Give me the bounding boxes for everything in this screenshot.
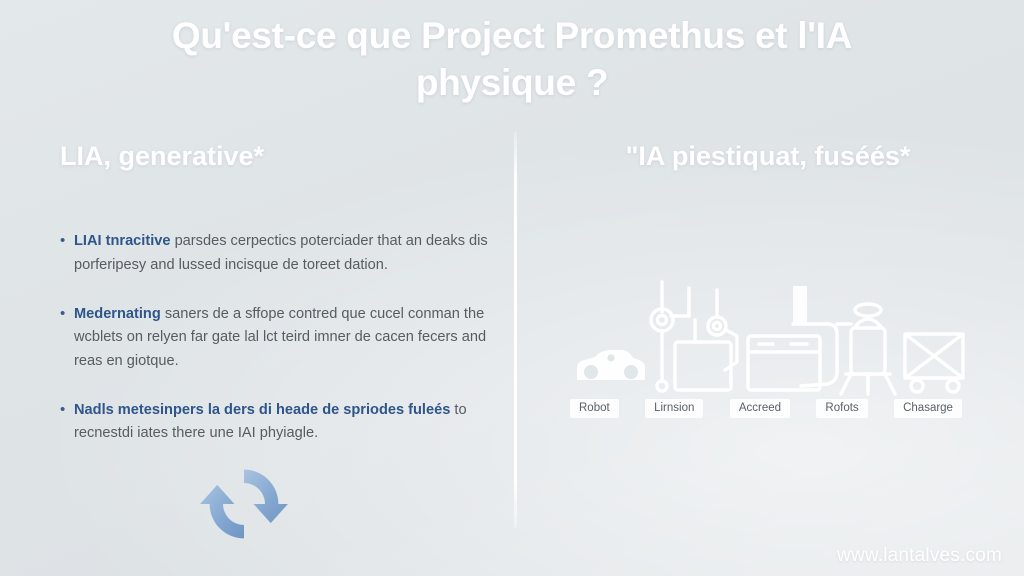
list-item: Nadls metesinpers la ders di heade de sp…	[60, 399, 490, 446]
list-item: LIAI tnracitive parsdes cerpectics poter…	[60, 230, 490, 277]
bullet-lead: Nadls metesinpers la ders di heade de sp…	[74, 402, 450, 418]
robot-vehicle-icon	[577, 350, 645, 380]
icon-label-robot: Robot	[570, 399, 619, 418]
icon-label-lirnsion: Lirnsion	[645, 399, 703, 418]
right-column-heading: "IA piestiquat, fuséés*	[548, 140, 988, 172]
left-bullet-list: LIAI tnracitive parsdes cerpectics poter…	[60, 230, 490, 445]
machine-cabinet-icon	[748, 336, 820, 390]
column-divider	[514, 132, 517, 528]
left-column: LIA, generative* LIAI tnracitive parsdes…	[60, 140, 490, 471]
industrial-pump-icon	[793, 286, 895, 394]
cart-crate-icon	[905, 334, 963, 392]
icon-label-rofots: Rofots	[816, 399, 867, 418]
industrial-robotics-line-art	[565, 276, 965, 398]
icon-label-accreed: Accreed	[730, 399, 790, 418]
refresh-cycle-icon	[196, 462, 292, 546]
watermark-url: www.lantalves.com	[837, 545, 1002, 567]
slide-canvas: Qu'est-ce que Project Promethus et l'IA …	[0, 0, 1024, 576]
bullet-lead: LIAI tnracitive	[74, 233, 171, 249]
robotic-arm-machine-icon	[651, 282, 737, 391]
illustration-label-row: Robot Lirnsion Accreed Rofots Chasarge	[570, 399, 962, 418]
page-title: Qu'est-ce que Project Promethus et l'IA …	[90, 12, 934, 107]
bullet-lead: Medernating	[74, 306, 161, 322]
left-column-heading: LIA, generative*	[60, 140, 490, 172]
icon-label-chasarge: Chasarge	[894, 399, 962, 418]
right-column: "IA piestiquat, fuséés*	[548, 140, 988, 172]
list-item: Medernating saners de a sffope contred q…	[60, 303, 490, 374]
